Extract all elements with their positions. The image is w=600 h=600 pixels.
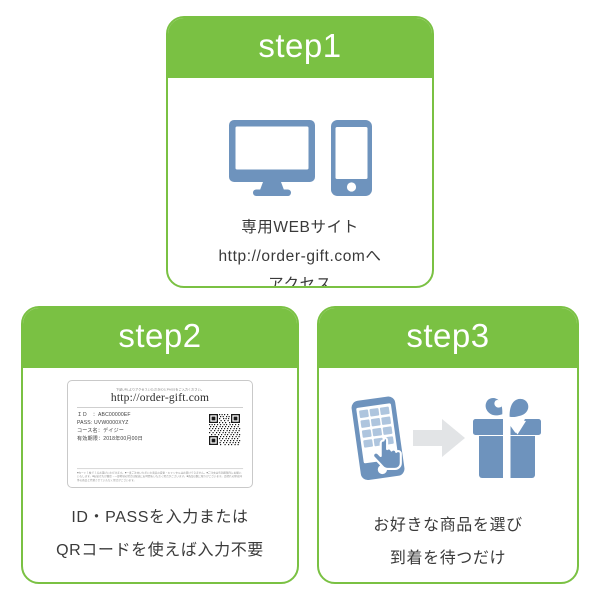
step2-caption: ID・PASSを入力または QRコードを使えば入力不要 — [23, 502, 297, 568]
step3-body: お好きな商品を選び 到着を待つだけ — [319, 368, 577, 582]
gift-card-fineprint: ■カード１枚で１点お選びいただけます。■一度ご注文いただいた商品の変更・キャンセ… — [77, 468, 243, 484]
gift-card-divider — [77, 407, 243, 408]
step3-caption-line-2: 到着を待つだけ — [319, 543, 577, 576]
step2-caption-line-1: ID・PASSを入力または — [23, 502, 297, 535]
gift-card-field-expiry: 有効期限：2018年00月00日 — [77, 437, 143, 443]
gift-card-note: 下記URLよりアクセスいただきIDとPASSをご入力ください。 — [62, 388, 258, 392]
step1-caption-line-2: http://order-gift.comへ — [168, 243, 432, 272]
smartphone-icon — [331, 120, 372, 196]
step-card-step1: step1 専用WEBサイト http://ord — [166, 16, 434, 288]
step3-caption-line-1: お好きな商品を選び — [319, 510, 577, 543]
gift-card-main: ＩＤ ：ABC00000EF PASS: UVW0000XYZ コース名：デイジ… — [77, 412, 243, 466]
gift-card-field-id: ＩＤ ：ABC00000EF — [77, 413, 143, 419]
gift-card-field-course: コース名：デイジー — [77, 429, 143, 435]
step2-header: step2 — [23, 308, 297, 368]
order-flow-icon-group — [349, 390, 547, 486]
step3-header: step3 — [319, 308, 577, 368]
gift-card-url: http://order-gift.com — [77, 392, 243, 404]
gift-card-fields: ＩＤ ：ABC00000EF PASS: UVW0000XYZ コース名：デイジ… — [77, 412, 143, 443]
devices-icon-group — [229, 100, 372, 196]
step1-caption-line-1: 専用WEBサイト — [168, 214, 432, 243]
step1-header: step1 — [168, 18, 432, 78]
gift-card-field-pass: PASS: UVW0000XYZ — [77, 421, 143, 427]
step1-caption-line-3: アクセス — [168, 271, 432, 288]
step3-caption: お好きな商品を選び 到着を待つだけ — [319, 510, 577, 576]
steps-diagram: step1 専用WEBサイト http://ord — [0, 0, 600, 600]
gift-box-icon — [467, 395, 547, 481]
step-card-step3: step3 — [317, 306, 579, 584]
smartphone-touch-icon — [349, 395, 411, 481]
desktop-monitor-icon — [229, 120, 315, 196]
step2-body: 下記URLよりアクセスいただきIDとPASSをご入力ください。 http://o… — [23, 368, 297, 582]
step-card-step2: step2 下記URLよりアクセスいただきIDとPASSをご入力ください。 ht… — [21, 306, 299, 584]
arrow-right-icon — [413, 419, 465, 457]
step2-caption-line-2: QRコードを使えば入力不要 — [23, 535, 297, 568]
qr-code-icon — [208, 413, 241, 446]
step1-caption: 専用WEBサイト http://order-gift.comへ アクセス — [168, 214, 432, 288]
step1-body: 専用WEBサイト http://order-gift.comへ アクセス — [168, 78, 432, 288]
gift-card-icon: 下記URLよりアクセスいただきIDとPASSをご入力ください。 http://o… — [67, 380, 253, 488]
